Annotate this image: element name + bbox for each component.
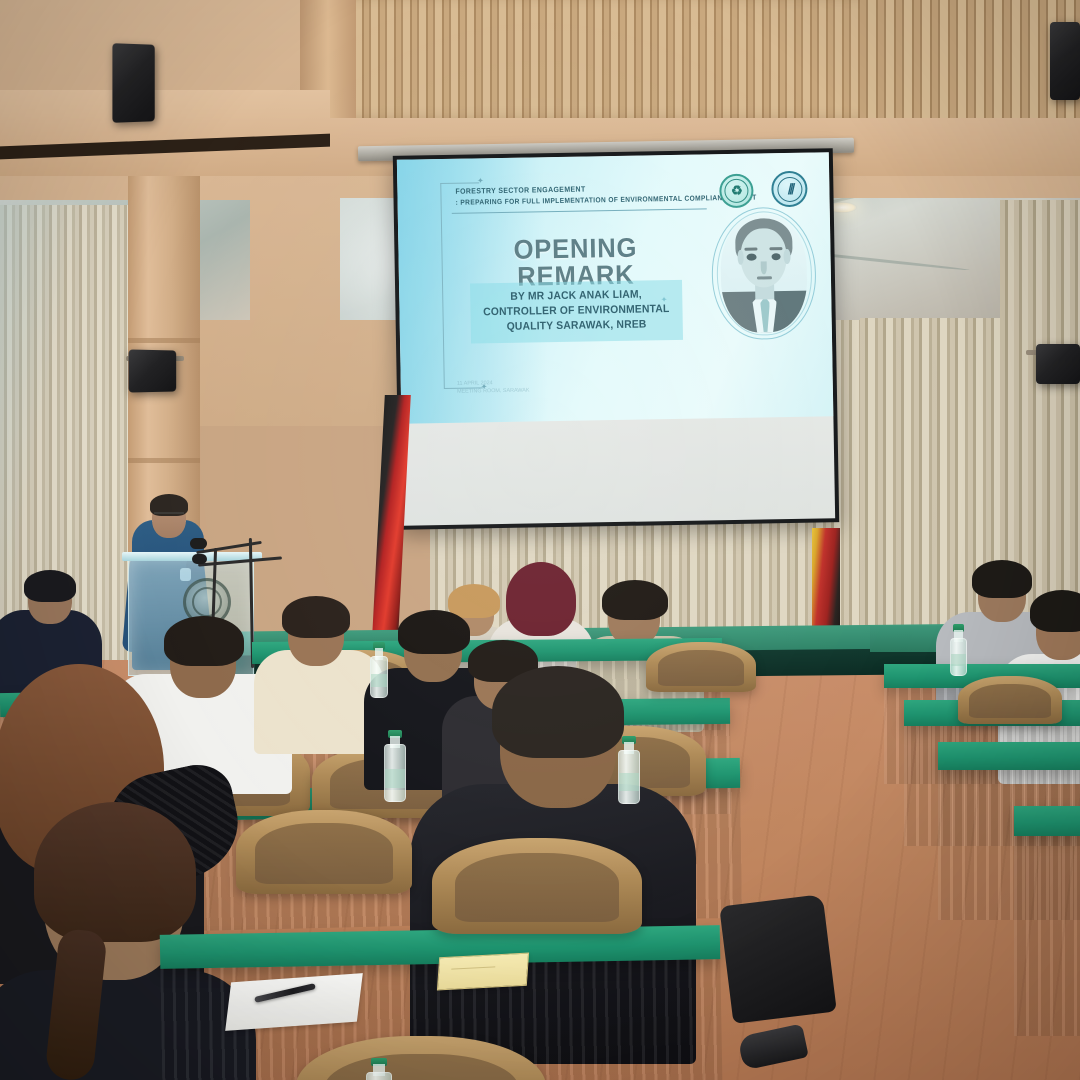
slide-subtitle-box: BY MR JACK ANAK LIAM, CONTROLLER OF ENVI… [470,280,683,344]
attendee-hair [506,562,576,636]
water-bottle [366,1058,392,1080]
water-bottle [370,642,388,698]
chair-pad [969,684,1050,719]
water-bottle [384,730,406,802]
slide-bracket-vertical [440,183,445,389]
attendee-hair [972,560,1032,598]
slide-subtitle-line3: QUALITY SARAWAK, NREB [483,317,671,335]
slide-eyebrow-rule [452,208,707,213]
portrait-nose [760,261,766,274]
microphone-icon [190,538,207,549]
table-drape [1014,836,1080,1036]
banquet-chair [432,838,642,934]
backpack [719,894,837,1024]
microphone-icon [192,554,207,564]
projection-screen: ✦ ✦ ✦ ✦ FORESTRY SECTOR ENGAGEMENT : PRE… [393,148,839,530]
nreb-logo-icon: ♻ [720,173,755,208]
presentation-slide: ✦ ✦ ✦ ✦ FORESTRY SECTOR ENGAGEMENT : PRE… [397,152,834,423]
conference-table [938,742,1080,770]
slide-footer: 11 APRIL 2024 MEETING ROOM, SARAWAK [457,377,652,397]
attendee-hair [1030,590,1080,632]
chair-pad [324,1054,519,1080]
portrait-eye-left [747,253,757,260]
bottle-body [370,656,388,698]
banquet-chair [236,810,412,894]
chair-pad [455,853,619,922]
water-bottle [950,624,967,676]
portrait-brow-left [745,247,758,250]
bottle-label [619,773,639,791]
attendee-hair [492,666,624,758]
slide-bracket-top [440,182,479,184]
conference-hall-photo: ✦ ✦ ✦ ✦ FORESTRY SECTOR ENGAGEMENT : PRE… [0,0,1080,1080]
screen-surface: ✦ ✦ ✦ ✦ FORESTRY SECTOR ENGAGEMENT : PRE… [397,152,835,525]
portrait-ear-right [784,249,791,264]
bottle-body [950,638,967,676]
yellow-note-card [437,953,529,991]
bottle-label [385,769,405,788]
bottle-body [384,744,406,802]
slide-tick-icon: ✦ [477,177,484,185]
wall-speaker-icon [1050,22,1080,100]
conference-table [1014,806,1080,836]
attendee-hair [164,616,244,666]
logo-ring [777,177,802,202]
attendee-hair [602,580,668,620]
logo-ring [725,178,749,202]
portrait-image [720,213,808,332]
wall-speaker-icon [112,43,154,123]
bottle-label [371,674,387,688]
bottle-body [618,750,640,804]
portrait-eye-right [772,253,782,260]
attendee-hair [398,610,470,654]
attendee-hair [34,802,196,942]
paper-sheet [225,973,363,1031]
ceiling-projector-icon [1036,344,1080,384]
agency-logo-icon: ⦀ [772,171,809,208]
wall-speaker-icon [129,349,177,392]
banquet-chair [646,642,756,692]
note-card-line [452,966,496,970]
portrait-brow-right [770,247,783,250]
portrait-mouth [756,276,772,279]
banquet-chair [958,676,1062,724]
glasses-icon [154,512,184,519]
attendee-hair [448,584,500,618]
attendee-hair [282,596,350,638]
attendee-hair [24,570,76,602]
chair-pad [255,823,392,883]
bottle-label [951,654,966,666]
bottle-body [366,1072,392,1080]
chair-pad [658,650,744,686]
crest-inner-ring [192,587,222,617]
water-bottle [618,736,640,804]
speaker-portrait [720,213,808,332]
